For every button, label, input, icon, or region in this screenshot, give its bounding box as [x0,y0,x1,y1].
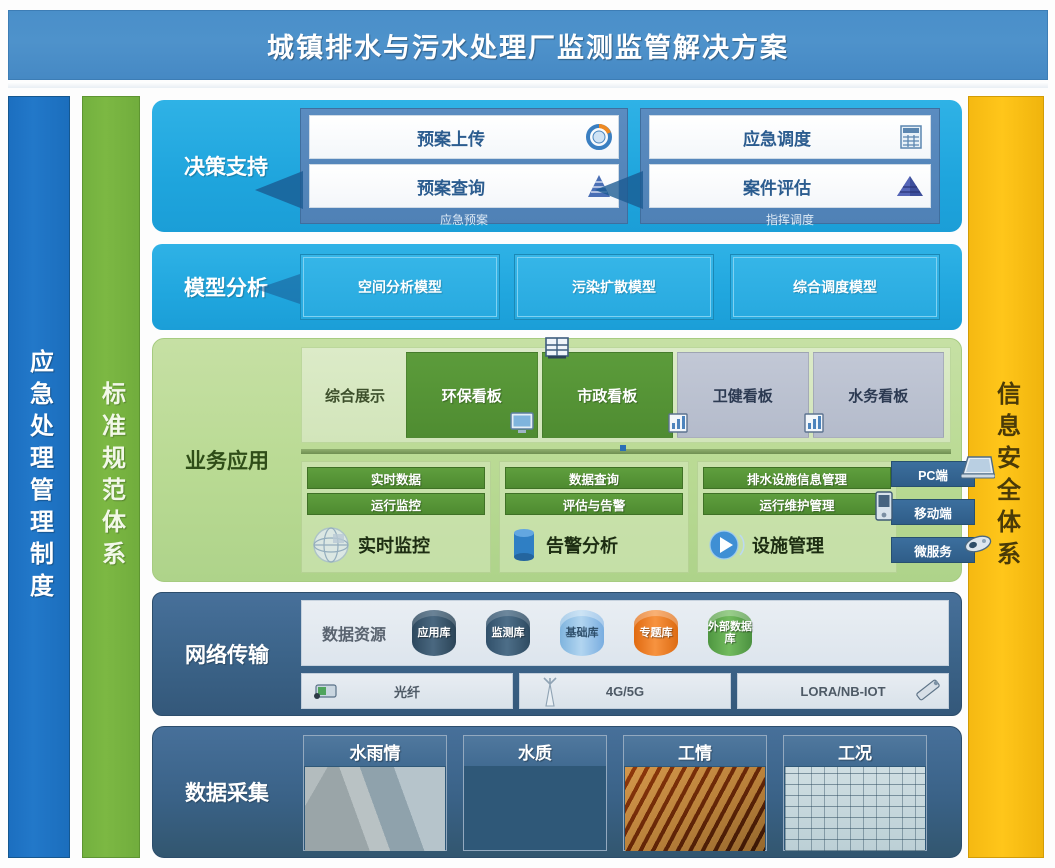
data-card-title: 水质 [464,736,606,766]
database-icon [509,527,539,563]
arrow-left-icon [595,171,643,209]
globe-icon [311,525,351,565]
database-label: 专题库 [634,627,678,639]
database-label: 基础库 [560,627,604,639]
kanban-environment[interactable]: 环保看板 [406,352,538,438]
business-feature-label: 实时监控 [358,532,430,558]
kanban-health[interactable]: 卫健看板 [677,352,809,438]
link-lora-nbiot[interactable]: LORA/NB-IOT [737,673,949,709]
comprehensive-display-row: 综合展示 环保看板 市政看板 [301,347,951,443]
link-4g5g[interactable]: 4G/5G [519,673,731,709]
business-feature-realtime-monitoring[interactable]: 实时监控 [307,521,485,569]
decision-group-caption: 指挥调度 [649,213,931,227]
page-title: 城镇排水与污水处理厂监测监管解决方案 [267,26,789,65]
pillar-emergency-management: 应急处理管理制度 [8,96,70,858]
laptop-icon [961,455,995,481]
terminal-label: 微服务 [914,541,952,560]
model-box-pollution-diffusion[interactable]: 污染扩散模型 [514,254,714,320]
business-button-operation-maintenance[interactable]: 运行维护管理 [703,493,891,515]
business-button-operation-monitoring[interactable]: 运行监控 [307,493,485,515]
pipeline-trench-photo [625,767,765,851]
business-button-evaluation-alarm[interactable]: 评估与告警 [505,493,683,515]
layer-decision-support-label: 决策支持 [152,100,300,232]
data-card-title: 工情 [624,736,766,766]
layer-data-collection-label: 数据采集 [153,727,301,857]
layer-network-transmission: 网络传输 数据资源 应用库 监测库 基础库 专题库 [152,592,962,716]
arrow-left-icon [255,171,303,209]
business-feature-facility-management[interactable]: 设施管理 [703,521,891,569]
layer-network-transmission-label: 网络传输 [153,593,301,715]
business-feature-label: 设施管理 [752,532,824,558]
terminal-label: 移动端 [914,503,952,522]
kanban-label: 卫健看板 [713,385,773,406]
monitor-icon [509,411,535,435]
business-column-facility: 排水设施信息管理 运行维护管理 设施管理 [697,461,897,573]
kanban-label: 市政看板 [577,385,637,406]
decision-item-plan-query[interactable]: 预案查询 [309,164,619,208]
chart-icon [668,413,688,433]
arrow-left-icon [256,274,300,304]
data-card-engineering-status[interactable]: 工情 [623,735,767,851]
cable-icon [312,680,340,702]
decision-item-label: 预案上传 [310,125,618,150]
architecture-diagram: 城镇排水与污水处理厂监测监管解决方案 应急处理管理制度 标准规范体系 信息安全体… [0,0,1055,868]
grid-table-icon [900,125,922,149]
layer-data-collection: 数据采集 水雨情 水质 工情 工况 [152,726,962,858]
decision-group-command-dispatch: 应急调度 案件评估 [640,108,940,224]
kanban-water-affairs[interactable]: 水务看板 [813,352,945,438]
decision-item-case-evaluation[interactable]: 案件评估 [649,164,931,208]
layer-business-application: 业务应用 综合展示 环保看板 市政看板 [152,338,962,582]
database-application[interactable]: 应用库 [406,608,462,658]
data-resources-label: 数据资源 [302,621,406,645]
decision-item-label: 应急调度 [650,125,930,150]
data-card-water-quality[interactable]: 水质 [463,735,607,851]
device-icon [963,531,993,555]
kanban-label: 水务看板 [848,385,908,406]
layer-model-analysis: 模型分析 空间分析模型 污染扩散模型 综合调度模型 [152,244,962,330]
business-feature-label: 告警分析 [546,532,618,558]
model-box-integrated-dispatch[interactable]: 综合调度模型 [730,254,940,320]
decision-item-emergency-dispatch[interactable]: 应急调度 [649,115,931,159]
database-label: 外部数据库 [708,621,752,645]
pyramid-dark-icon [896,175,924,197]
terminal-label: PC端 [918,465,948,484]
treatment-plant-photo [465,767,605,851]
business-feature-alarm-analysis[interactable]: 告警分析 [505,521,683,569]
database-monitoring[interactable]: 监测库 [480,608,536,658]
decision-item-plan-upload[interactable]: 预案上传 [309,115,619,159]
data-card-working-condition[interactable]: 工况 [783,735,927,851]
database-label: 应用库 [412,627,456,639]
decision-item-label: 案件评估 [650,174,930,199]
link-label: 4G/5G [606,684,644,699]
database-external[interactable]: 外部数据库 [702,608,758,658]
layer-decision-support: 决策支持 预案上传 预案查询 [152,100,962,232]
transmission-links-row: 光纤 4G/5G LORA/NB-IOT [301,673,949,709]
data-card-title: 工况 [784,736,926,766]
title-divider [8,82,1048,88]
divider-dot [620,445,626,451]
link-label: 光纤 [394,682,420,701]
channel-photo [305,767,445,851]
chart-icon [804,413,824,433]
link-fiber[interactable]: 光纤 [301,673,513,709]
database-thematic[interactable]: 专题库 [628,608,684,658]
data-card-title: 水雨情 [304,736,446,766]
business-button-drainage-facility-info[interactable]: 排水设施信息管理 [703,467,891,489]
business-button-data-query[interactable]: 数据查询 [505,467,683,489]
kanban-municipal[interactable]: 市政看板 [542,352,674,438]
data-resources-row: 数据资源 应用库 监测库 基础库 专题库 外部数据库 [301,600,949,666]
terminal-mobile[interactable]: 移动端 [891,499,975,525]
decision-group-emergency-plan: 预案上传 预案查询 应急预案 [300,108,628,224]
decision-group-caption: 应急预案 [309,213,619,227]
play-icon [707,526,745,564]
business-column-query: 数据查询 评估与告警 告警分析 [499,461,689,573]
business-divider [301,449,951,454]
database-basic[interactable]: 基础库 [554,608,610,658]
link-label: LORA/NB-IOT [800,684,885,699]
model-box-spatial[interactable]: 空间分析模型 [300,254,500,320]
layer-business-application-label: 业务应用 [153,339,301,581]
cycle-icon [586,124,612,150]
scada-diagram-photo [785,767,925,851]
window-icon [545,337,569,359]
phone-icon [873,491,895,521]
kanban-label: 环保看板 [442,385,502,406]
database-label: 监测库 [486,627,530,639]
decision-item-label: 预案查询 [310,174,618,199]
business-column-monitoring: 实时数据 运行监控 实时监控 [301,461,491,573]
module-icon [910,676,944,706]
pillar-standards-system: 标准规范体系 [82,96,140,858]
comprehensive-display-label: 综合展示 [306,352,404,438]
business-button-realtime-data[interactable]: 实时数据 [307,467,485,489]
page-title-bar: 城镇排水与污水处理厂监测监管解决方案 [8,10,1048,80]
antenna-icon [540,676,560,708]
data-card-rainfall[interactable]: 水雨情 [303,735,447,851]
